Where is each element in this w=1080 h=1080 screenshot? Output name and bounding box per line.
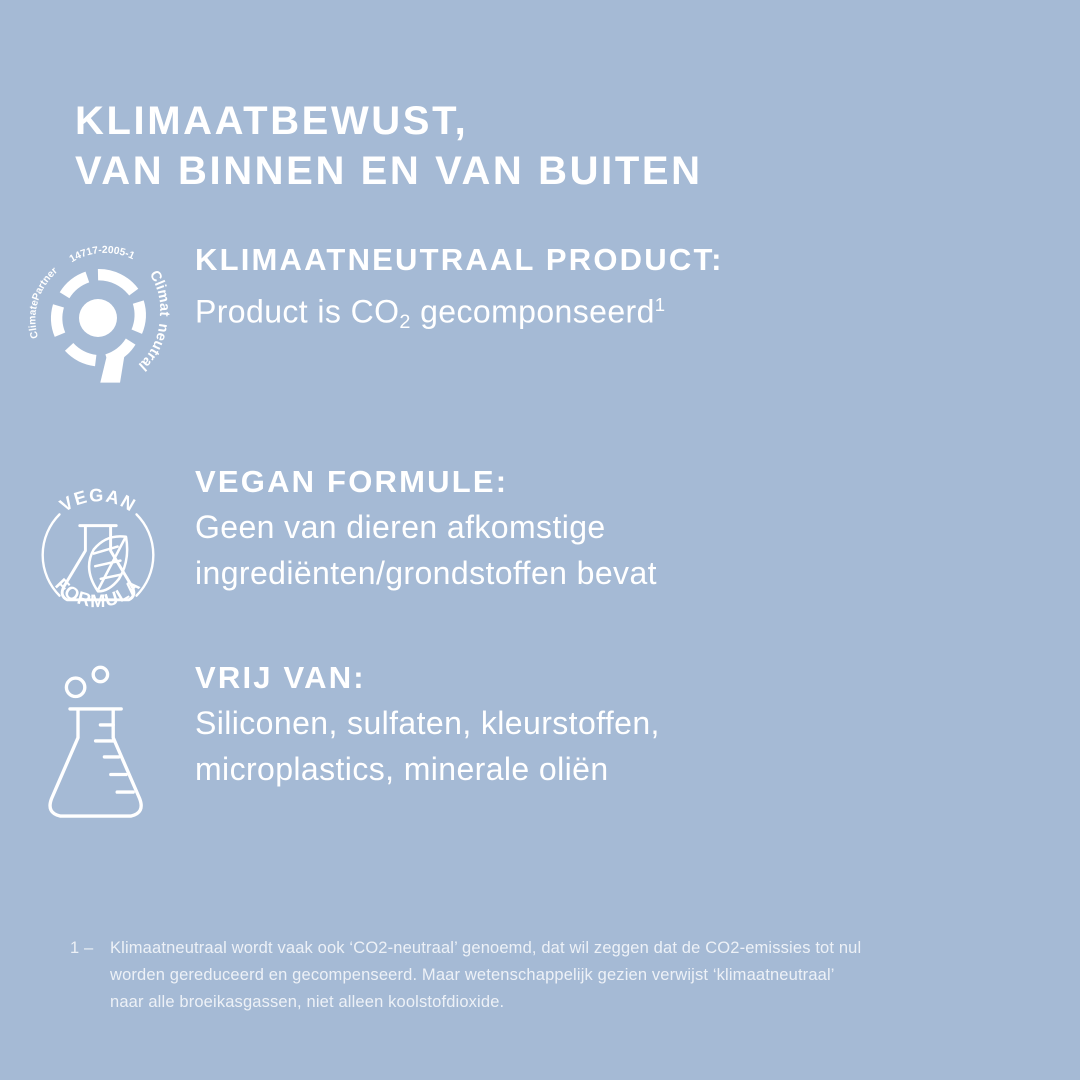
co2-subscript: 2 bbox=[399, 311, 410, 333]
feature-heading: VRIJ VAN: bbox=[195, 656, 660, 700]
footnote-line-3: naar alle broeikasgassen, niet alleen ko… bbox=[110, 989, 861, 1016]
feature-vegan-formula-text: VEGAN FORMULE: Geen van dieren afkomstig… bbox=[195, 458, 657, 596]
feature-body-middle: gecomponseerd bbox=[411, 294, 655, 330]
feature-heading: VEGAN FORMULE: bbox=[195, 460, 657, 504]
svg-text:VEGAN: VEGAN bbox=[56, 485, 140, 516]
svg-text:14717-2005-1001: 14717-2005-1001 bbox=[22, 242, 136, 265]
page-title: KLIMAATBEWUST, VAN BINNEN EN VAN BUITEN bbox=[75, 96, 703, 196]
footnote-body: Klimaatneutraal wordt vaak ook ‘CO2-neut… bbox=[110, 935, 861, 1016]
footnote-reference: 1 bbox=[655, 294, 666, 315]
feature-heading: KLIMAATNEUTRAAL PRODUCT: bbox=[195, 238, 724, 282]
svg-text:FORMULA: FORMULA bbox=[51, 574, 144, 611]
feature-body-prefix: Product is CO bbox=[195, 294, 399, 330]
footnote-marker: 1 – bbox=[70, 935, 110, 1016]
feature-body-line-2: microplastics, minerale oliën bbox=[195, 746, 660, 792]
feature-free-from: VRIJ VAN: Siliconen, sulfaten, kleurstof… bbox=[0, 654, 1080, 829]
feature-climate-neutral-text: KLIMAATNEUTRAAL PRODUCT: Product is CO2 … bbox=[195, 236, 724, 345]
feature-free-from-text: VRIJ VAN: Siliconen, sulfaten, kleurstof… bbox=[195, 654, 660, 792]
feature-body-line-1: Geen van dieren afkomstige bbox=[195, 504, 657, 550]
feature-body-line-2: ingrediënten/grondstoffen bevat bbox=[195, 550, 657, 596]
climate-claims-poster: KLIMAATBEWUST, VAN BINNEN EN VAN BUITEN … bbox=[0, 0, 1080, 1080]
footnote: 1 – Klimaatneutraal wordt vaak ook ‘CO2-… bbox=[70, 935, 1030, 1016]
climate-neutral-certification-icon: ClimatePartner 14717-2005-1001 Climate n… bbox=[0, 236, 195, 394]
feature-body-line-1: Siliconen, sulfaten, kleurstoffen, bbox=[195, 700, 660, 746]
feature-vegan-formula: VEGAN FORMULA bbox=[0, 458, 1080, 638]
feature-climate-neutral: ClimatePartner 14717-2005-1001 Climate n… bbox=[0, 236, 1080, 394]
page-title-line-2: VAN BINNEN EN VAN BUITEN bbox=[75, 146, 703, 196]
feature-body: Product is CO2 gecomponseerd1 bbox=[195, 282, 724, 345]
footnote-line-1: Klimaatneutraal wordt vaak ook ‘CO2-neut… bbox=[110, 935, 861, 962]
page-title-line-1: KLIMAATBEWUST, bbox=[75, 96, 703, 146]
erlenmeyer-flask-icon bbox=[0, 654, 195, 829]
footnote-line-2: worden gereduceerd en gecompenseerd. Maa… bbox=[110, 962, 861, 989]
vegan-formula-badge-icon: VEGAN FORMULA bbox=[0, 458, 195, 638]
